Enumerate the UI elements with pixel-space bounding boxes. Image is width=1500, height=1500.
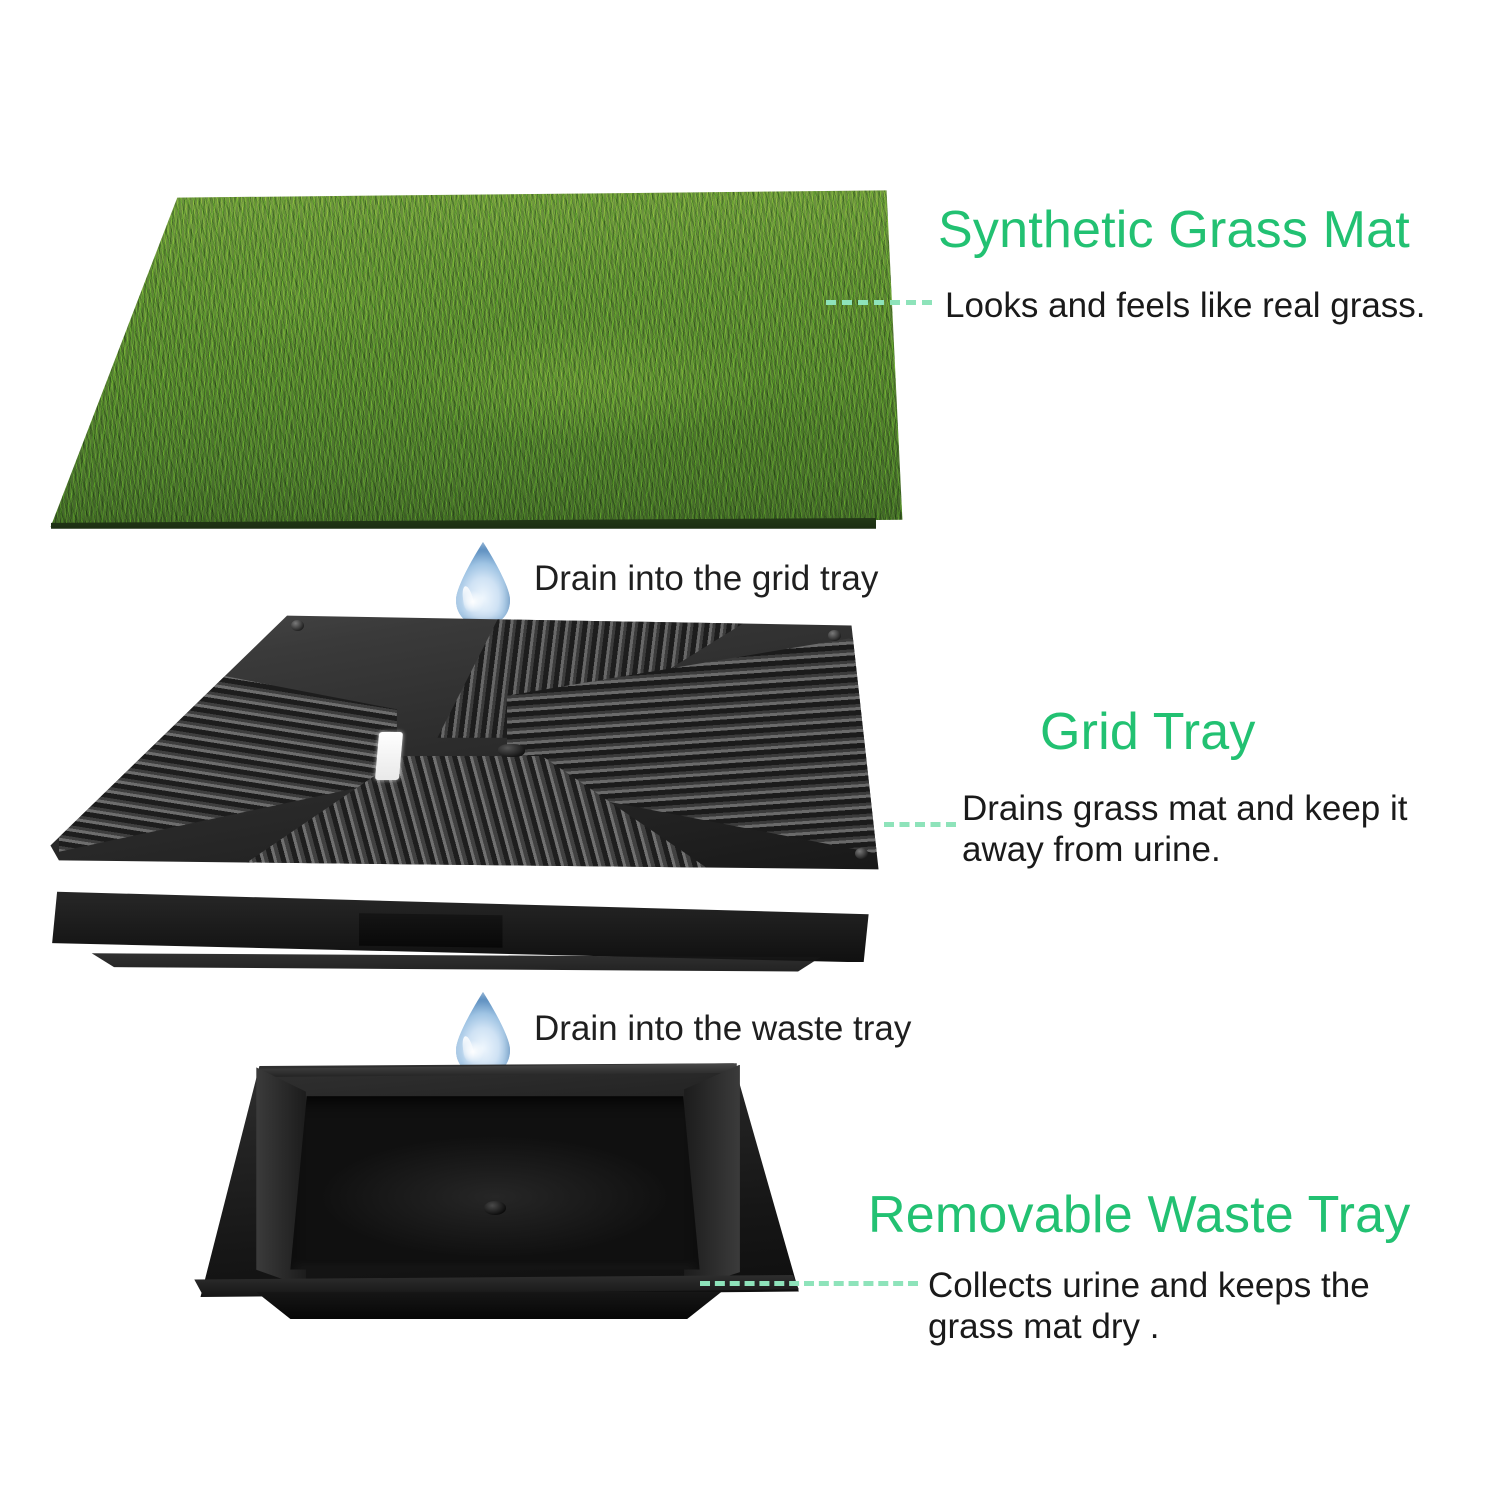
grid-tray-handle-notch: [359, 913, 503, 948]
grid-tray-description: Drains grass mat and keep it away from u…: [962, 788, 1432, 871]
leader-line-waste-tray: [700, 1281, 918, 1286]
waste-tray-icon: [185, 1055, 805, 1330]
waste-tray-description: Collects urine and keeps the grass mat d…: [928, 1265, 1408, 1348]
flow-label-grid-tray: Drain into the grid tray: [534, 559, 878, 599]
grid-tray-drain-slot: [375, 732, 403, 780]
waste-tray-base: [241, 1292, 737, 1320]
grass-mat-description: Looks and feels like real grass.: [945, 285, 1426, 326]
grid-tray-peg: [855, 848, 868, 859]
grass-blade-texture-3: [40, 185, 920, 545]
flow-label-waste-tray: Drain into the waste tray: [534, 1009, 911, 1049]
grid-tray-peg: [828, 630, 841, 641]
grid-tray-surface: [42, 612, 887, 911]
grass-mat-icon: [40, 185, 920, 545]
infographic-canvas: Synthetic Grass Mat Looks and feels like…: [0, 0, 1500, 1500]
waste-tray-basin: [290, 1096, 699, 1269]
leader-line-grass-mat: [826, 300, 932, 305]
grid-tray-heading: Grid Tray: [1040, 705, 1256, 760]
grid-tray-peg: [291, 620, 304, 631]
waste-tray-heading: Removable Waste Tray: [868, 1188, 1410, 1243]
leader-line-grid-tray: [884, 822, 956, 827]
waste-tray-drain-dimple: [484, 1201, 506, 1215]
grid-tray-center-stud: [498, 744, 525, 757]
grass-mat-heading: Synthetic Grass Mat: [938, 203, 1410, 258]
grid-tray-icon: [42, 612, 887, 977]
